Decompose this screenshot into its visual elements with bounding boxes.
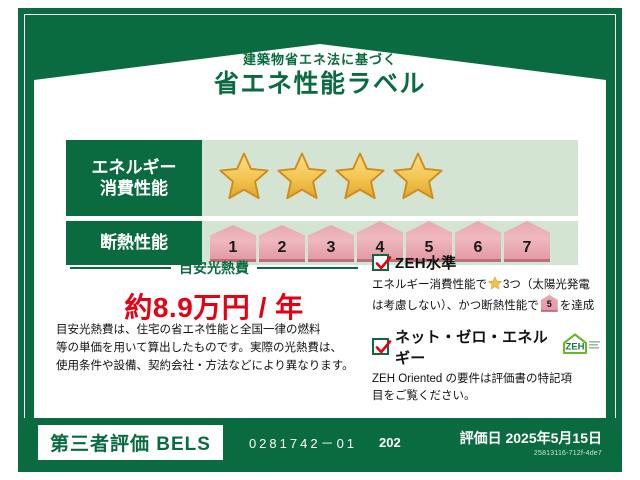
energy-cost-note-line2: 等の単価を用いて算出したものです。実際の光熱費は、 xyxy=(56,340,362,358)
zeh-standard-line2-a: は考慮しない）、かつ断熱性能で xyxy=(372,300,539,312)
star-icon-inline xyxy=(488,276,502,297)
evaluation-info: 評価日 2025年5月15日 25813116-712f-4de7 xyxy=(460,428,602,457)
rule-left xyxy=(70,267,171,269)
zeh-house-logo-icon: ZEH xyxy=(560,332,602,361)
grade-badge-number: 6 xyxy=(474,239,483,262)
energy-cost-heading: 目安光熱費 xyxy=(70,258,358,278)
net-zero-energy-line2: 目をご覧ください。 xyxy=(372,388,602,406)
energy-performance-value xyxy=(202,140,578,216)
energy-cost-note-line1: 目安光熱費は、住宅の省エネ性能と全国一律の燃料 xyxy=(56,322,362,340)
energy-cost-note: 目安光熱費は、住宅の省エネ性能と全国一律の燃料 等の単価を用いて算出したものです… xyxy=(56,322,362,375)
grade-badge-number: 4 xyxy=(376,239,385,262)
insulation-grade-badge[interactable]: 2 xyxy=(259,228,305,262)
insulation-grade-badge[interactable]: 1 xyxy=(210,228,256,262)
zeh-standard-line1-b: 3つ（太陽光発電 xyxy=(503,279,590,291)
energy-cost-block: 目安光熱費 約8.9万円 / 年 xyxy=(70,258,358,326)
evaluation-hash: 25813116-712f-4de7 xyxy=(460,450,602,457)
rule-right xyxy=(257,267,358,269)
bels-label: 第三者評価 BELS xyxy=(38,425,223,460)
energy-performance-label: 建築物省エネ法に基づく 省エネ性能ラベル エネルギー 消費性能 断熱性能 123… xyxy=(0,0,640,480)
house-shape: 建築物省エネ法に基づく 省エネ性能ラベル エネルギー 消費性能 断熱性能 123… xyxy=(34,44,606,456)
energy-cost-heading-text: 目安光熱費 xyxy=(179,258,249,278)
net-zero-energy-line1: ZEH Oriented の要件は評価書の特記項 xyxy=(372,371,602,389)
grade-badge-number: 5 xyxy=(541,298,558,312)
star-icon xyxy=(392,150,444,207)
grade-badge-number: 1 xyxy=(229,239,238,262)
bels-footer-bar: 第三者評価 BELS 0281742－01 202 評価日 2025年5月15日… xyxy=(24,418,616,466)
net-zero-energy-header: ネット・ゼロ・エネルギー ZEH xyxy=(372,326,602,368)
zeh-standard-body: エネルギー消費性能で 3つ（太陽光発電 は考慮しない）、かつ断熱性能で 5 を達… xyxy=(372,276,602,316)
performance-panel: エネルギー 消費性能 断熱性能 1234567 xyxy=(66,140,578,270)
net-zero-energy-body: ZEH Oriented の要件は評価書の特記項 目をご覧ください。 xyxy=(372,371,602,407)
certificate-suffix: 202 xyxy=(379,435,401,450)
energy-performance-row: エネルギー 消費性能 xyxy=(66,140,578,216)
grade-badge-number: 2 xyxy=(278,239,287,262)
energy-cost-note-line3: 使用条件や設備、契約会社・方法などにより異なります。 xyxy=(56,358,362,376)
grade-badge-number: 7 xyxy=(523,239,532,262)
insulation-grade-inline-badge: 5 xyxy=(541,297,558,312)
zeh-standard-line2-b: を達成 xyxy=(560,300,595,312)
insulation-key-text: 断熱性能 xyxy=(100,232,168,253)
energy-key-line2: 消費性能 xyxy=(100,178,168,199)
page-title: 省エネ性能ラベル xyxy=(34,69,606,100)
energy-key-line1: エネルギー xyxy=(92,157,177,178)
star-rating xyxy=(218,150,444,207)
certificate-number: 0281742－01 xyxy=(249,433,357,452)
title-subtitle: 建築物省エネ法に基づく xyxy=(34,52,606,68)
evaluation-date: 評価日 2025年5月15日 xyxy=(460,430,602,446)
title-block: 建築物省エネ法に基づく 省エネ性能ラベル xyxy=(34,52,606,100)
star-icon xyxy=(276,150,328,207)
net-zero-energy-item: ネット・ゼロ・エネルギー ZEH ZEH Oriented の要件は評価書の特記… xyxy=(372,326,602,407)
energy-performance-label-key: エネルギー 消費性能 xyxy=(66,140,202,216)
zeh-column: ZEH水準 エネルギー消費性能で 3つ（太陽光発電 は考慮しない）、かつ断熱性能… xyxy=(372,252,602,416)
grade-badge-number: 3 xyxy=(327,239,336,262)
insulation-grade-badge[interactable]: 3 xyxy=(308,228,354,262)
svg-text:ZEH: ZEH xyxy=(566,342,585,353)
zeh-standard-line1-a: エネルギー消費性能で xyxy=(372,279,487,291)
net-zero-energy-title: ネット・ゼロ・エネルギー xyxy=(395,326,552,368)
energy-cost-value: 約8.9万円 / 年 xyxy=(70,286,358,326)
grade-badge-number: 5 xyxy=(425,239,434,262)
zeh-standard-item: ZEH水準 エネルギー消費性能で 3つ（太陽光発電 は考慮しない）、かつ断熱性能… xyxy=(372,252,602,316)
star-icon xyxy=(218,150,270,207)
star-icon xyxy=(334,150,386,207)
check-icon-net-zero-energy[interactable] xyxy=(372,338,389,355)
zeh-standard-header: ZEH水準 xyxy=(372,252,602,273)
